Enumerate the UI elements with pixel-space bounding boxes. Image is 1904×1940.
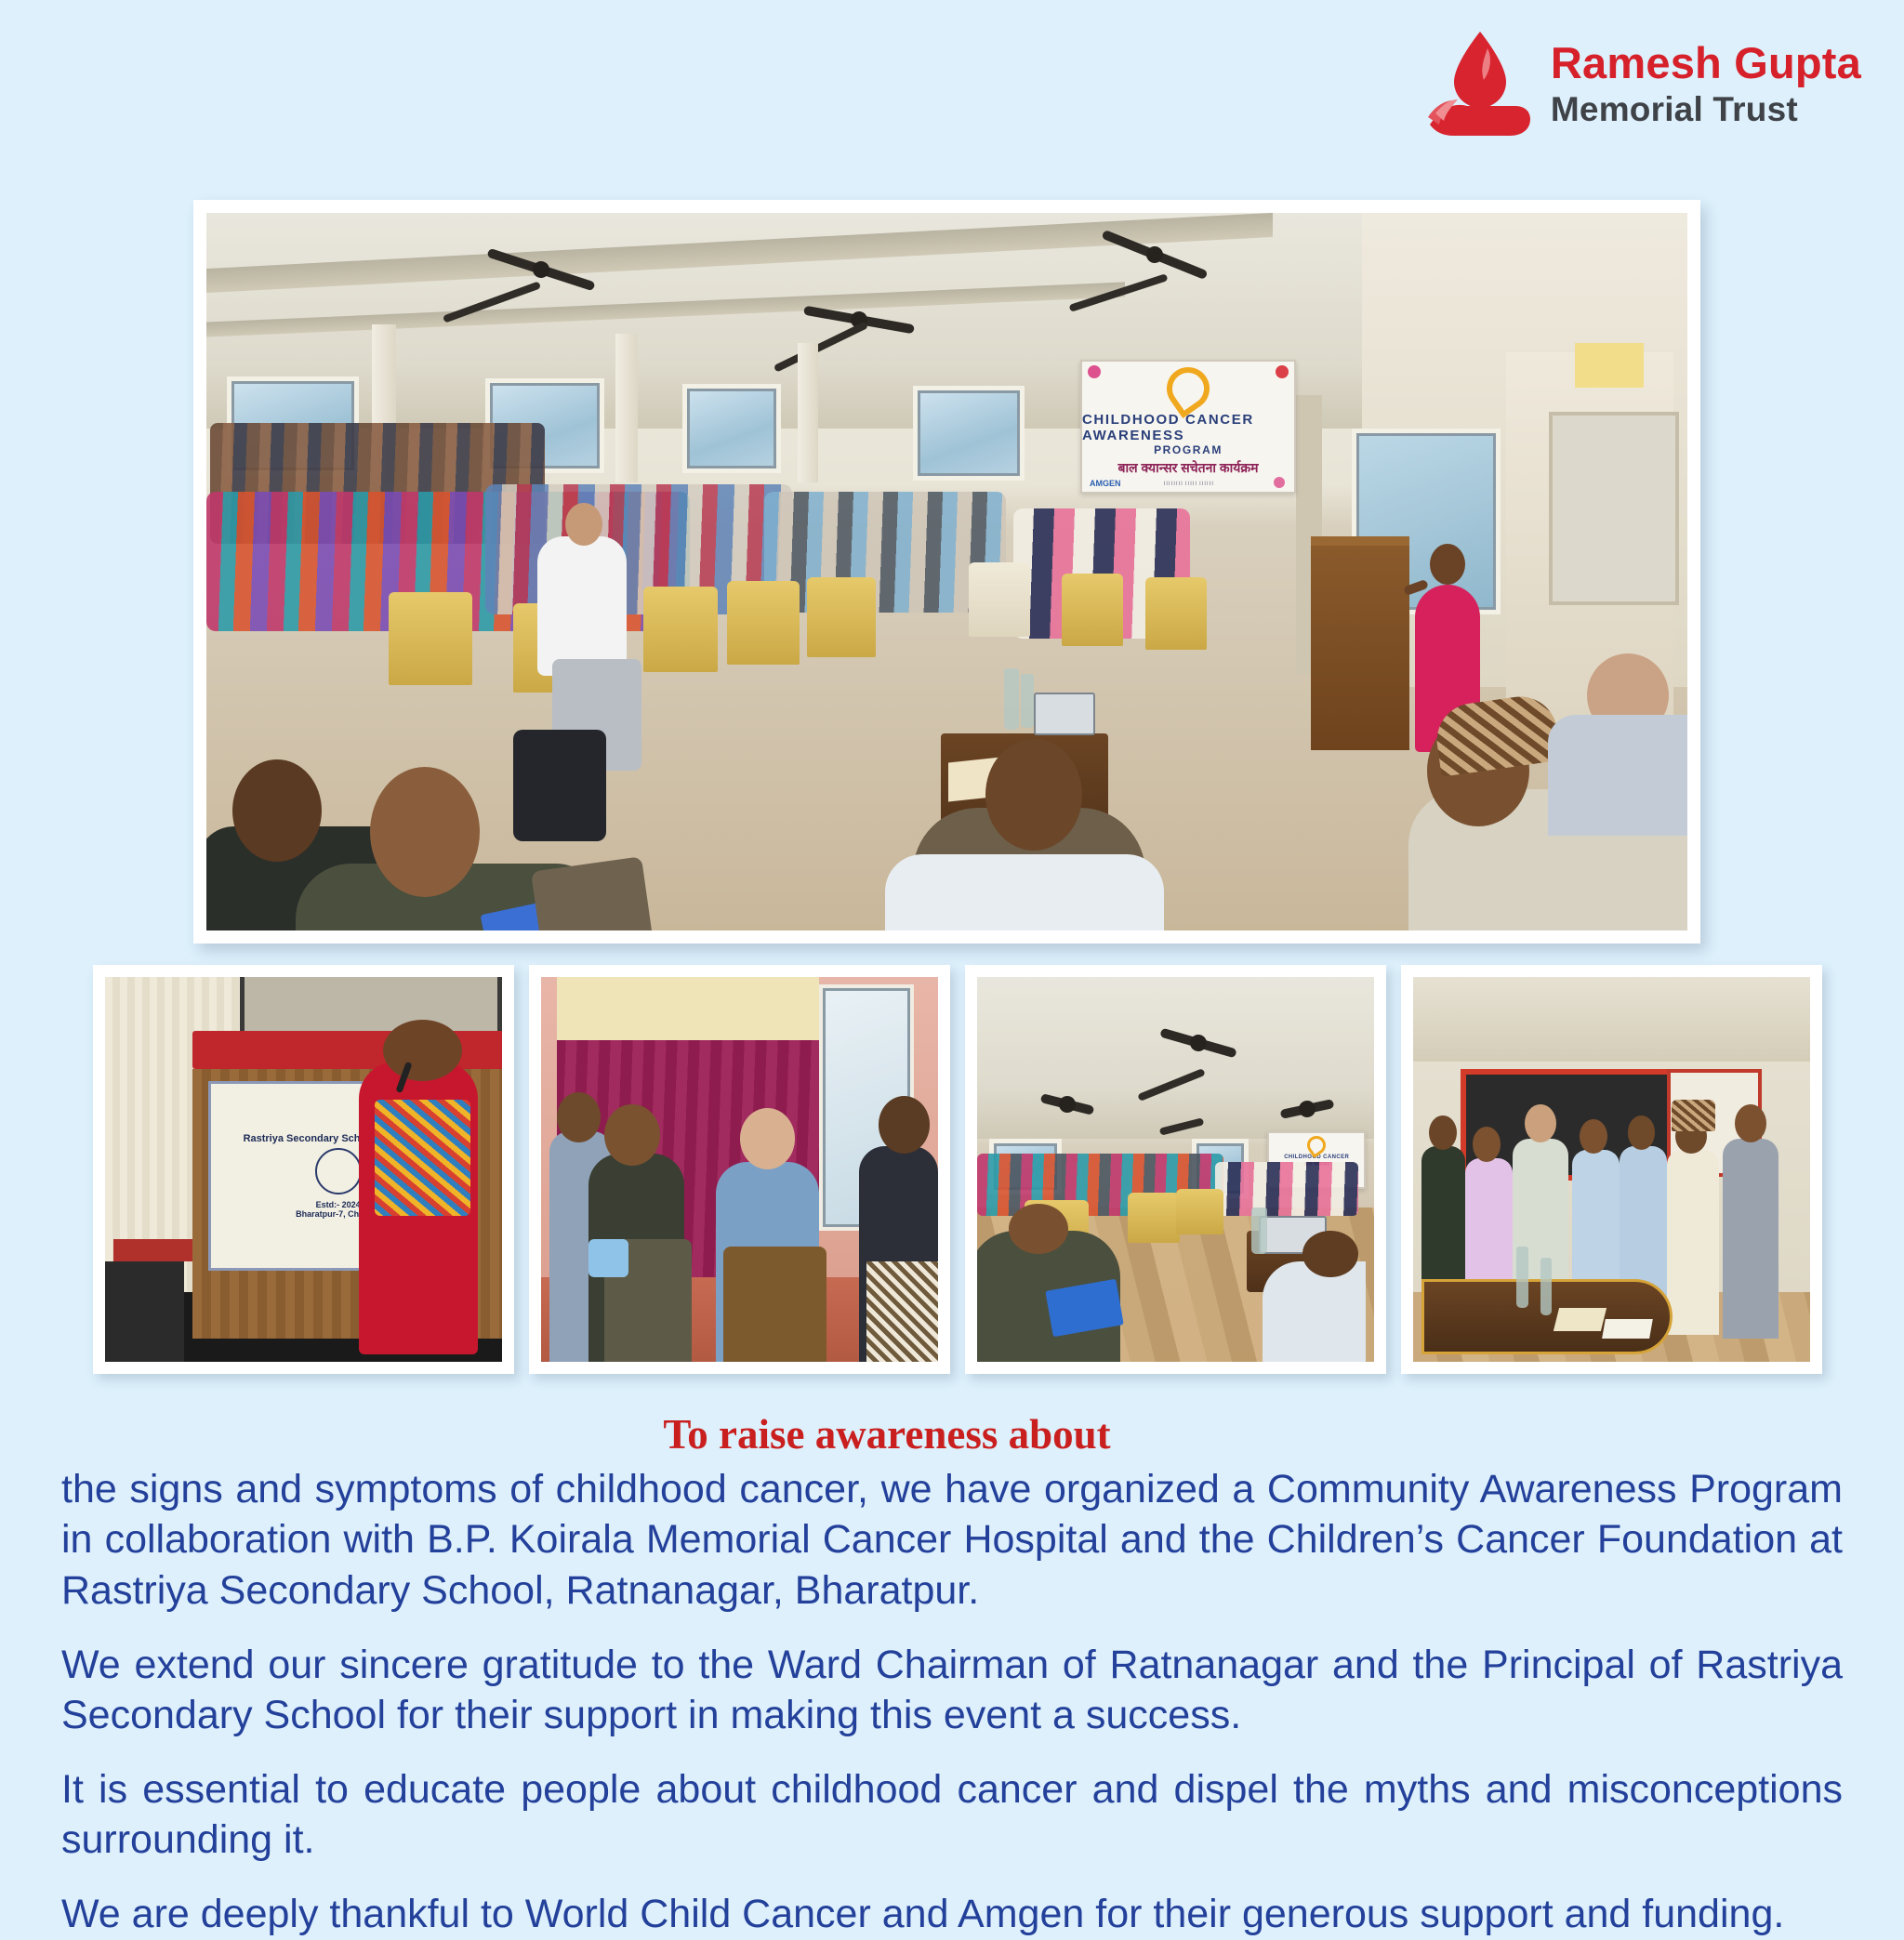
thumbnail-3-frame: CHILDHOOD CANCER बाल क्यान्सर xyxy=(965,965,1386,1374)
banner-title-line2: PROGRAM xyxy=(1154,443,1223,456)
program-banner: CHILDHOOD CANCER AWARENESS PROGRAM बाल क… xyxy=(1080,360,1296,494)
caption-paragraph-2: We extend our sincere gratitude to the W… xyxy=(61,1640,1843,1740)
thumbnail-2-seated-guests xyxy=(541,977,938,1362)
thumbnail-4-group-photo xyxy=(1413,977,1810,1362)
hero-photo-frame: CHILDHOOD CANCER AWARENESS PROGRAM बाल क… xyxy=(193,200,1700,944)
banner-title-nepali: बाल क्यान्सर सचेतना कार्यक्रम xyxy=(1117,459,1258,477)
caption-paragraph-3: It is essential to educate people about … xyxy=(61,1764,1843,1865)
brand-name-line1: Ramesh Gupta xyxy=(1551,41,1861,85)
thumbnail-2-frame xyxy=(529,965,950,1374)
thumbnail-1-frame: Rastriya Secondary School Krishnapur Est… xyxy=(93,965,514,1374)
brand-name: Ramesh Gupta Memorial Trust xyxy=(1551,41,1861,126)
school-emblem-icon xyxy=(315,1148,362,1194)
banner-sponsor: AMGEN xyxy=(1090,479,1121,488)
thumbnail-4-frame xyxy=(1401,965,1822,1374)
caption-headline: To raise awareness about xyxy=(61,1413,1843,1457)
caption-block: To raise awareness about the signs and s… xyxy=(61,1413,1843,1940)
blood-drop-in-hand-icon xyxy=(1426,28,1534,139)
thumbnail-1-podium-speaker: Rastriya Secondary School Krishnapur Est… xyxy=(105,977,502,1362)
banner-title-line1: CHILDHOOD CANCER AWARENESS xyxy=(1082,412,1294,443)
brand-header: Ramesh Gupta Memorial Trust xyxy=(1426,28,1861,139)
podium-sign-established: Estd:- 2024 xyxy=(316,1200,361,1209)
caption-paragraph-1: the signs and symptoms of childhood canc… xyxy=(61,1464,1843,1616)
thumbnail-strip: Rastriya Secondary School Krishnapur Est… xyxy=(93,965,1822,1374)
brand-name-line2: Memorial Trust xyxy=(1551,92,1861,126)
caption-paragraph-4: We are deeply thankful to World Child Ca… xyxy=(61,1889,1843,1939)
hero-photo: CHILDHOOD CANCER AWARENESS PROGRAM बाल क… xyxy=(206,213,1687,930)
thumbnail-3-hall-wide: CHILDHOOD CANCER बाल क्यान्सर xyxy=(977,977,1374,1362)
